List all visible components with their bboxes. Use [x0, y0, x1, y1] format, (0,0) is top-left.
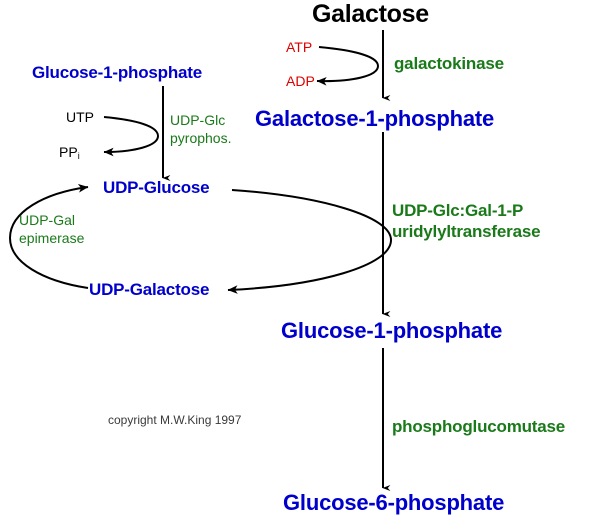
- enzyme-galactokinase: galactokinase: [394, 55, 504, 72]
- enzyme-udp-gal-epimerase-line2: epimerase: [19, 230, 84, 248]
- pathway-diagram: Galactose ATP ADP galactokinase Galactos…: [0, 0, 600, 522]
- enzyme-uridylyltransferase-line1: UDP-Glc:Gal-1-P: [392, 200, 540, 221]
- enzyme-phosphoglucomutase: phosphoglucomutase: [392, 418, 565, 435]
- copyright-notice: copyright M.W.King 1997: [108, 414, 241, 426]
- cofactor-ppi-subscript: i: [78, 151, 80, 161]
- enzyme-udp-gal-epimerase-line1: UDP-Gal: [19, 212, 84, 230]
- metabolite-udp-glucose: UDP-Glucose: [103, 179, 209, 196]
- enzyme-udp-glc-pyrophosphorylase: UDP-Glc pyrophos.: [170, 112, 231, 147]
- cofactor-atp: ATP: [286, 40, 312, 54]
- metabolite-galactose: Galactose: [312, 2, 429, 27]
- cofactor-utp: UTP: [66, 110, 94, 124]
- enzyme-udp-gal-epimerase: UDP-Gal epimerase: [19, 212, 84, 247]
- enzyme-uridylyltransferase-line2: uridylyltransferase: [392, 221, 540, 242]
- metabolite-glucose-6-phosphate: Glucose-6-phosphate: [283, 492, 504, 514]
- metabolite-udp-galactose: UDP-Galactose: [89, 281, 209, 298]
- metabolite-galactose-1-phosphate: Galactose-1-phosphate: [255, 108, 494, 130]
- enzyme-udp-glc-gal-1-p-uridylyltransferase: UDP-Glc:Gal-1-P uridylyltransferase: [392, 200, 540, 243]
- curved-arrow-utp-ppi: [104, 117, 158, 152]
- cofactor-ppi-base: PP: [59, 144, 78, 160]
- cofactor-adp: ADP: [286, 74, 315, 88]
- enzyme-udp-glc-pyrophos-line2: pyrophos.: [170, 130, 231, 148]
- curved-arrow-atp-adp: [317, 47, 378, 81]
- metabolite-glucose-1-phosphate-top: Glucose-1-phosphate: [32, 64, 202, 81]
- metabolite-glucose-1-phosphate-bottom: Glucose-1-phosphate: [281, 320, 502, 342]
- enzyme-udp-glc-pyrophos-line1: UDP-Glc: [170, 112, 231, 130]
- cofactor-ppi: PPi: [59, 145, 80, 159]
- curved-arrow-udpglucose-to-udpgalactose: [228, 190, 391, 290]
